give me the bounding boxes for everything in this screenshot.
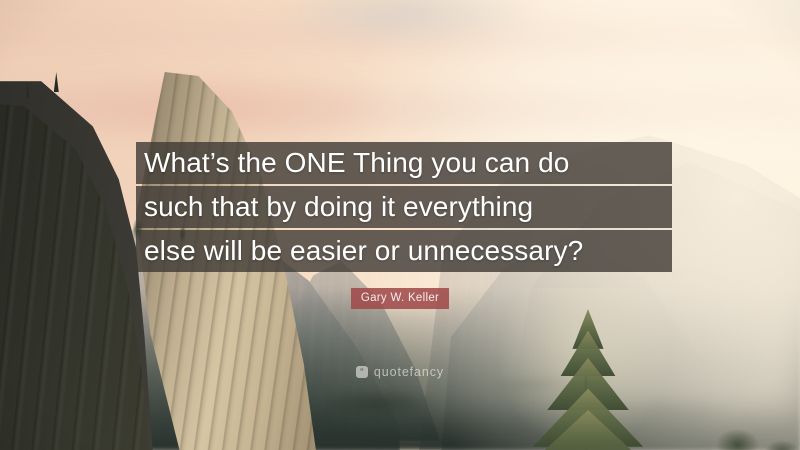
summit-trees	[8, 36, 184, 108]
watermark: “ quotefancy	[0, 365, 800, 379]
quote-line: else will be easier or unnecessary?	[136, 230, 672, 272]
watermark-label: quotefancy	[374, 365, 444, 379]
foreground-shrub	[704, 387, 800, 450]
cool-cloud	[288, 0, 528, 41]
quote-line: What’s the ONE Thing you can do	[136, 142, 672, 184]
quote-poster: What’s the ONE Thing you can do such tha…	[0, 0, 800, 450]
author-attribution: Gary W. Keller	[0, 288, 800, 309]
quotefancy-logo-icon: “	[356, 366, 368, 378]
author-name: Gary W. Keller	[351, 288, 449, 309]
quote-line: such that by doing it everything	[136, 186, 672, 228]
quote-text-block: What’s the ONE Thing you can do such tha…	[136, 142, 672, 274]
